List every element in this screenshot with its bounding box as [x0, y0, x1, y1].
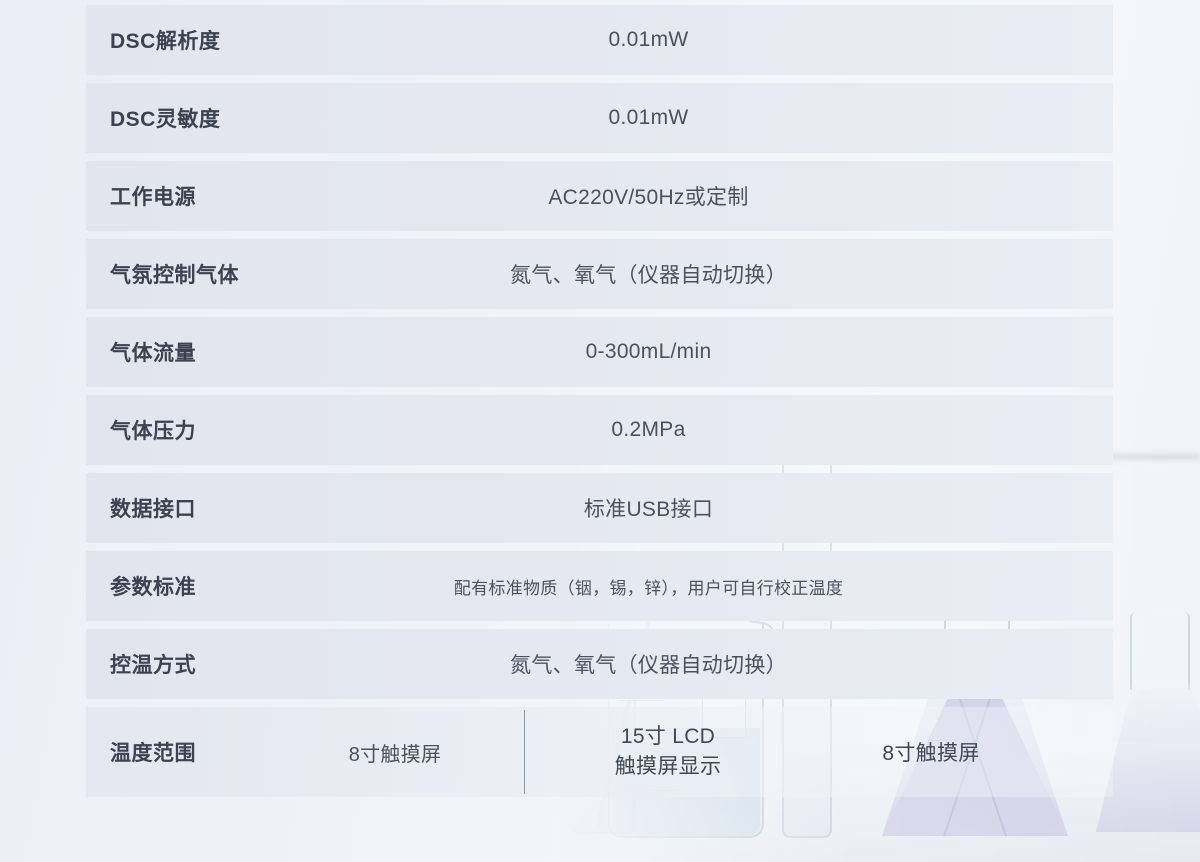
spec-value: 配有标准物质（铟，锡，锌），用户可自行校正温度: [266, 574, 1113, 599]
spec-value: 0.01mW: [266, 106, 1113, 130]
table-row: 控温方式 氮气、氧气（仪器自动切换）: [86, 629, 1113, 699]
spec-value-touchscreen-right: 8寸触摸屏: [811, 737, 1113, 767]
last-row-cells: 8寸触摸屏 15寸 LCD 触摸屏显示 8寸触摸屏: [266, 707, 1113, 797]
spec-label: 控温方式: [86, 649, 266, 679]
lcd-line-2: 触摸屏显示: [525, 752, 811, 782]
table-row: 参数标准 配有标准物质（铟，锡，锌），用户可自行校正温度: [86, 551, 1113, 621]
table-row: 气体流量 0-300mL/min: [86, 317, 1113, 387]
spec-value: 0.01mW: [266, 28, 1113, 52]
table-row: 数据接口 标准USB接口: [86, 473, 1113, 543]
spec-value-lcd-display: 15寸 LCD 触摸屏显示: [525, 722, 811, 782]
spec-value-touchscreen-left: 8寸触摸屏: [266, 738, 524, 767]
table-row: 工作电源 AC220V/50Hz或定制: [86, 161, 1113, 231]
spec-sheet-page: DSC解析度 0.01mW DSC灵敏度 0.01mW 工作电源 AC220V/…: [0, 0, 1200, 862]
spec-label: 数据接口: [86, 493, 266, 523]
spec-value: AC220V/50Hz或定制: [266, 181, 1113, 211]
spec-value: 氮气、氧气（仪器自动切换）: [266, 259, 1113, 289]
table-row: DSC灵敏度 0.01mW: [86, 83, 1113, 153]
spec-label: 温度范围: [86, 737, 266, 767]
table-row: 气体压力 0.2MPa: [86, 395, 1113, 465]
flask-neck: [1130, 612, 1190, 690]
spec-label: DSC解析度: [86, 25, 266, 55]
table-row-temperature-range: 温度范围 8寸触摸屏 15寸 LCD 触摸屏显示 8寸触摸屏: [86, 707, 1113, 797]
specification-table: DSC解析度 0.01mW DSC灵敏度 0.01mW 工作电源 AC220V/…: [86, 5, 1113, 797]
spec-value: 标准USB接口: [266, 493, 1113, 523]
table-row: DSC解析度 0.01mW: [86, 5, 1113, 75]
lcd-line-1: 15寸 LCD: [525, 722, 811, 752]
spec-label: 参数标准: [86, 571, 266, 601]
spec-label: 工作电源: [86, 181, 266, 211]
spec-label: DSC灵敏度: [86, 103, 266, 133]
spec-value: 氮气、氧气（仪器自动切换）: [266, 649, 1113, 679]
spec-value: 0.2MPa: [266, 418, 1113, 442]
spec-label: 气氛控制气体: [86, 259, 266, 289]
spec-label: 气体压力: [86, 415, 266, 445]
spec-value: 0-300mL/min: [266, 340, 1113, 364]
table-row: 气氛控制气体 氮气、氧气（仪器自动切换）: [86, 239, 1113, 309]
spec-label: 气体流量: [86, 337, 266, 367]
